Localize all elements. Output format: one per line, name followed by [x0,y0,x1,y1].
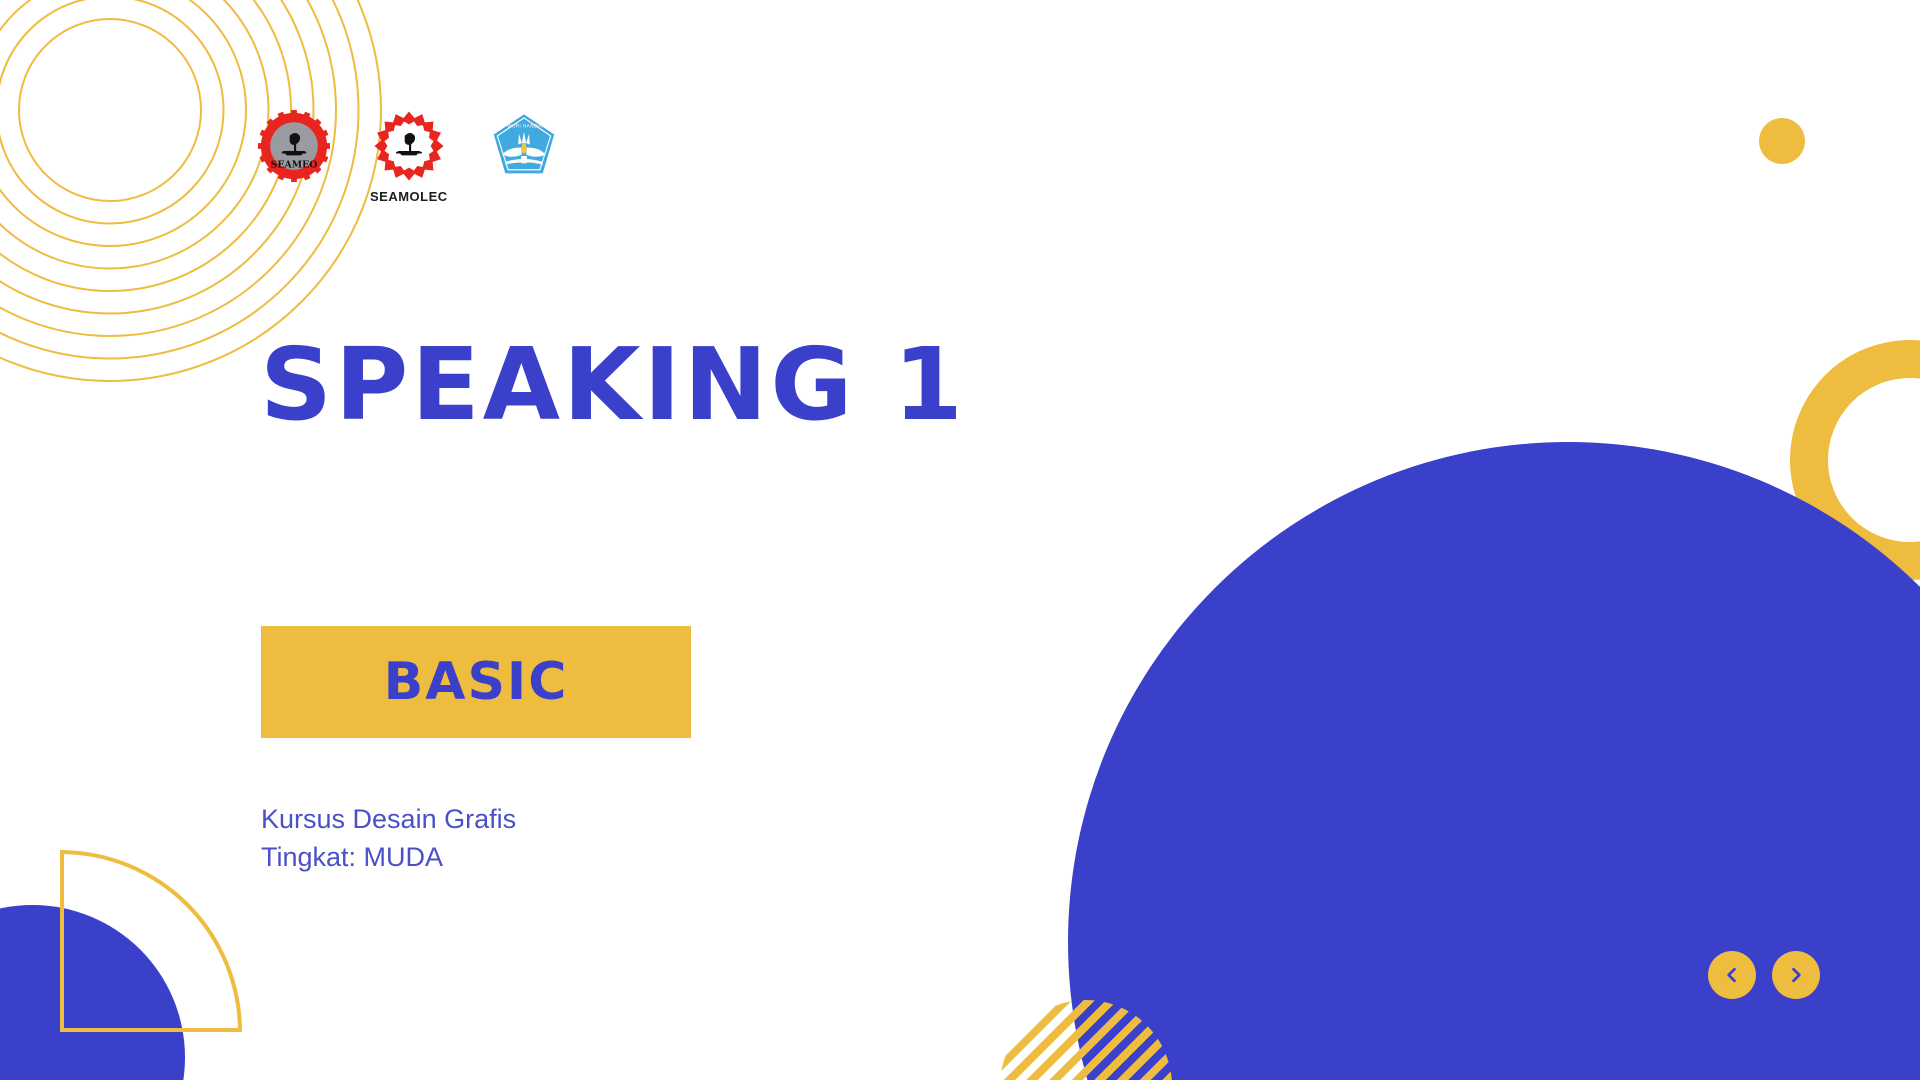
quarter-arc-decoration [60,850,242,1032]
logo-item-tut-wuri-handayani: TUT WURI HANDAYANI [488,110,560,189]
next-slide-button[interactable] [1772,951,1820,999]
course-meta: Kursus Desain Grafis Tingkat: MUDA [261,800,516,877]
seameo-logo: SEAMEO [258,110,330,187]
seamolec-logo [373,110,445,187]
yellow-ring-decoration [1790,340,1920,580]
striped-circle-decoration [1000,1000,1172,1080]
course-level: Tingkat: MUDA [261,838,516,876]
presentation-slide: SEAMEO [0,0,1920,1080]
page-title: SPEAKING 1 [260,335,966,435]
logo-caption: SEAMOLEC [370,189,448,204]
chevron-right-icon [1786,965,1806,985]
svg-text:SEAMEO: SEAMEO [271,160,318,171]
yellow-dot-decoration [1759,118,1805,164]
logo-item-seamolec: SEAMOLEC [370,110,448,204]
logo-item-seameo: SEAMEO [258,110,330,189]
level-badge-label: BASIC [384,652,569,712]
slide-navigation [1708,951,1820,999]
blue-circle-bottom-left-decoration [0,905,185,1080]
logo-row: SEAMEO [258,110,560,204]
course-name: Kursus Desain Grafis [261,800,516,838]
chevron-left-icon [1722,965,1742,985]
tut-wuri-handayani-logo: TUT WURI HANDAYANI [488,110,560,187]
previous-slide-button[interactable] [1708,951,1756,999]
level-badge: BASIC [261,626,691,738]
svg-text:TUT WURI HANDAYANI: TUT WURI HANDAYANI [494,123,552,129]
